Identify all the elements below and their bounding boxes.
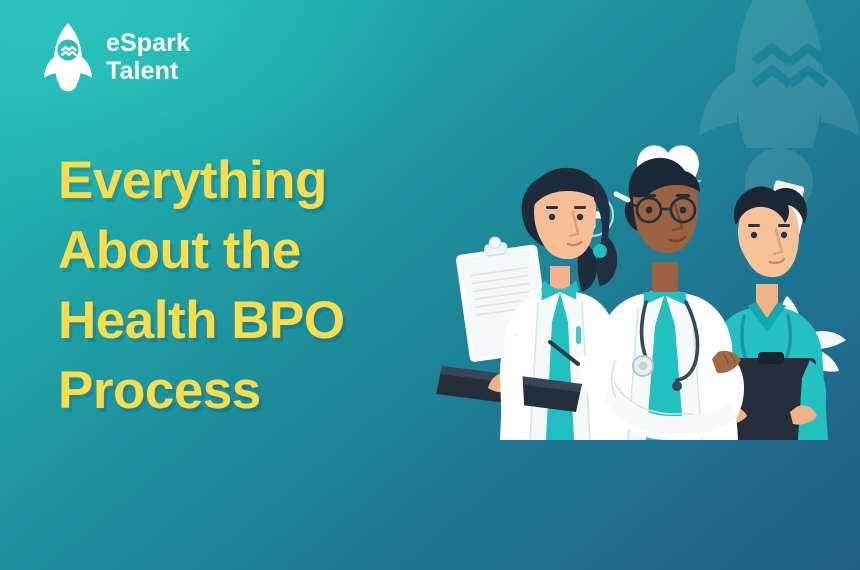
headline-line-3: Health BPO <box>58 286 458 356</box>
headline-line-2: About the <box>58 216 458 286</box>
rocket-icon <box>44 22 92 92</box>
banner-root: eSpark Talent Everything About the Healt… <box>0 0 860 570</box>
three-healthcare-professionals-illustration <box>430 120 860 440</box>
brand-name-line2: Talent <box>106 57 190 85</box>
headline-line-1: Everything <box>58 146 458 216</box>
brand-name-line1: eSpark <box>106 29 190 57</box>
brand-logo[interactable]: eSpark Talent <box>44 22 190 92</box>
page-title: Everything About the Health BPO Process <box>58 146 458 426</box>
brand-wordmark: eSpark Talent <box>106 29 190 85</box>
male-doctor-figure <box>592 158 744 440</box>
headline-line-4: Process <box>58 356 458 426</box>
